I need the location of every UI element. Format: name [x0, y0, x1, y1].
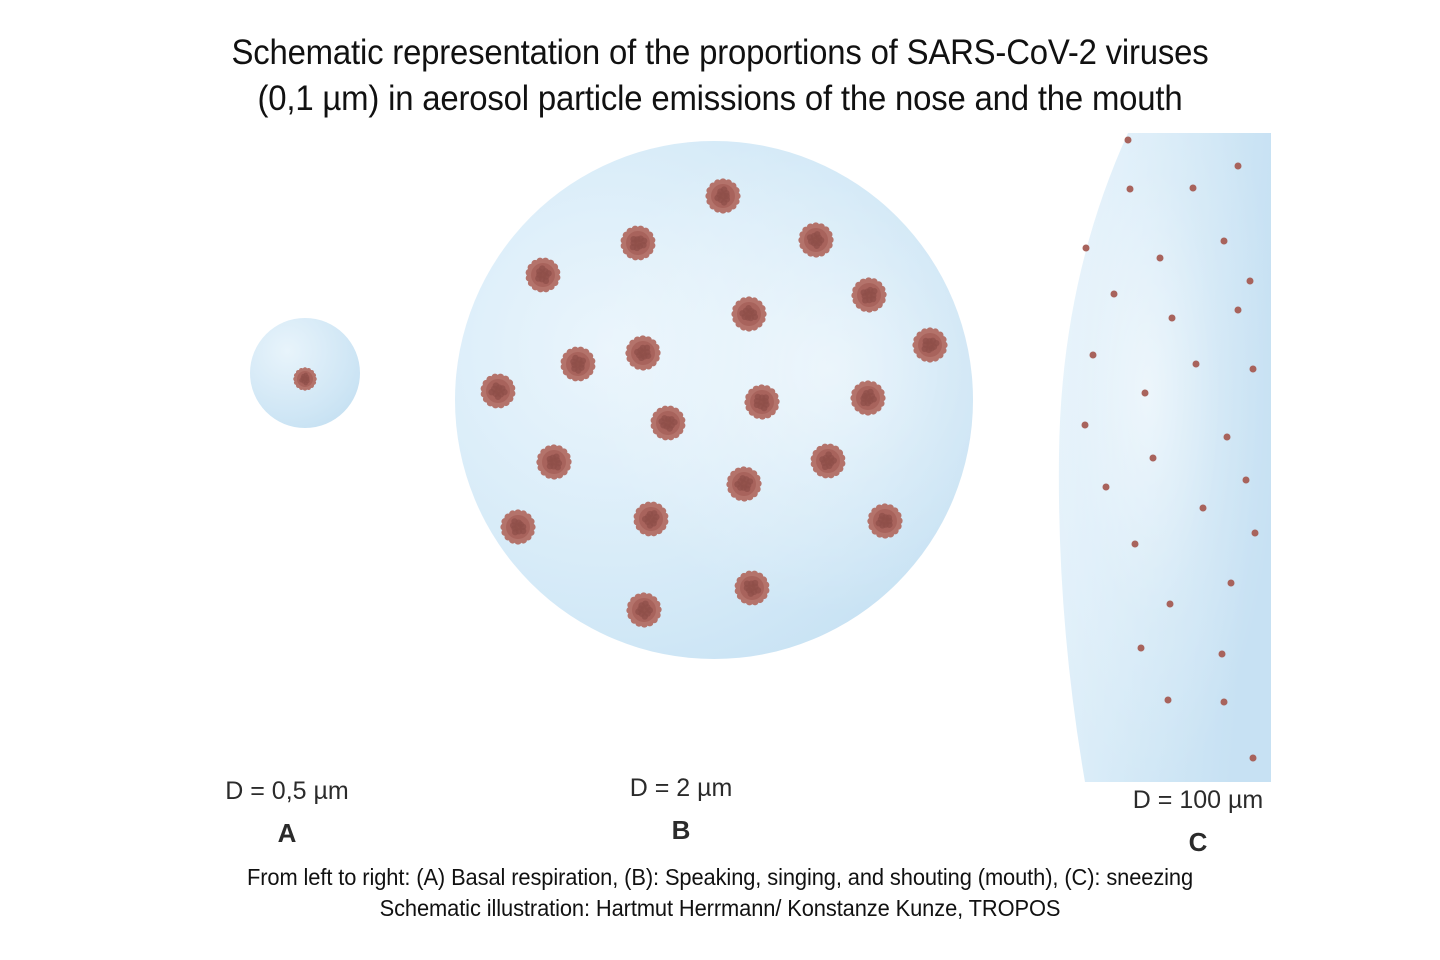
virus-particle: [1219, 697, 1230, 708]
title-line-1: Schematic representation of the proporti…: [43, 30, 1397, 76]
virus-particle: [1167, 313, 1178, 324]
droplet-c-label: D = 100 µm C: [1098, 784, 1298, 859]
illustration-canvas: Schematic representation of the proporti…: [0, 0, 1440, 960]
virus-particle: [535, 443, 572, 480]
virus-particle: [1080, 420, 1091, 431]
virus-particle: [1241, 475, 1252, 486]
virus-particle: [1140, 388, 1151, 399]
caption-line-1: From left to right: (A) Basal respiratio…: [36, 862, 1404, 893]
droplet-b-sphere: [455, 141, 973, 659]
virus-particle: [1125, 184, 1136, 195]
virus-particle: [730, 295, 767, 332]
virus-particle: [1248, 753, 1259, 764]
virus-particle: [479, 372, 516, 409]
virus-particle: [624, 334, 661, 371]
droplet-c-letter: C: [1098, 825, 1298, 859]
virus-particle: [1123, 135, 1134, 146]
droplet-c-segment: [1055, 130, 1275, 785]
caption-line-2: Schematic illustration: Hartmut Herrmann…: [36, 893, 1404, 924]
virus-particle: [649, 404, 686, 441]
virus-particle: [1219, 236, 1230, 247]
virus-particle: [866, 502, 903, 539]
virus-particle: [1222, 432, 1233, 443]
droplet-a-letter: A: [187, 816, 387, 850]
virus-particle: [1188, 183, 1199, 194]
virus-particle: [850, 276, 887, 313]
virus-particle: [704, 177, 741, 214]
virus-particle: [1155, 253, 1166, 264]
virus-particle: [849, 379, 886, 416]
droplet-b-dimension: D = 2 µm: [581, 772, 781, 804]
virus-particle: [559, 345, 596, 382]
virus-particle: [1233, 305, 1244, 316]
droplet-b-label: D = 2 µm B: [581, 772, 781, 847]
virus-particle: [1233, 161, 1244, 172]
virus-particle: [1136, 643, 1147, 654]
virus-particle: [1198, 503, 1209, 514]
virus-particle: [1101, 482, 1112, 493]
virus-particle: [1109, 289, 1120, 300]
virus-particle: [1245, 276, 1256, 287]
virus-particle: [1217, 649, 1228, 660]
figure-caption: From left to right: (A) Basal respiratio…: [0, 862, 1440, 924]
droplet-c-dimension: D = 100 µm: [1098, 784, 1298, 816]
virus-particle: [809, 442, 846, 479]
virus-particle: [1165, 599, 1176, 610]
virus-particle: [1088, 350, 1099, 361]
droplet-a-label: D = 0,5 µm A: [187, 775, 387, 850]
droplet-a-dimension: D = 0,5 µm: [187, 775, 387, 807]
virus-particle: [619, 224, 656, 261]
virus-particle: [1191, 359, 1202, 370]
virus-particle: [1081, 243, 1092, 254]
title-line-2: (0,1 µm) in aerosol particle emissions o…: [43, 76, 1397, 122]
virus-particle: [725, 465, 762, 502]
virus-particle: [797, 221, 834, 258]
page-title: Schematic representation of the proporti…: [0, 30, 1440, 122]
virus-particle: [1163, 695, 1174, 706]
virus-particle: [293, 367, 318, 392]
virus-particle: [1250, 528, 1261, 539]
virus-particle: [743, 383, 780, 420]
virus-particle: [733, 569, 770, 606]
droplet-b-letter: B: [581, 813, 781, 847]
virus-particle: [911, 326, 948, 363]
virus-particle: [1148, 453, 1159, 464]
virus-particle: [625, 591, 662, 628]
virus-particle: [1248, 364, 1259, 375]
virus-particle: [524, 256, 561, 293]
virus-particle: [1130, 539, 1141, 550]
virus-particle: [632, 500, 669, 537]
virus-particle: [499, 508, 536, 545]
virus-particle: [1226, 578, 1237, 589]
